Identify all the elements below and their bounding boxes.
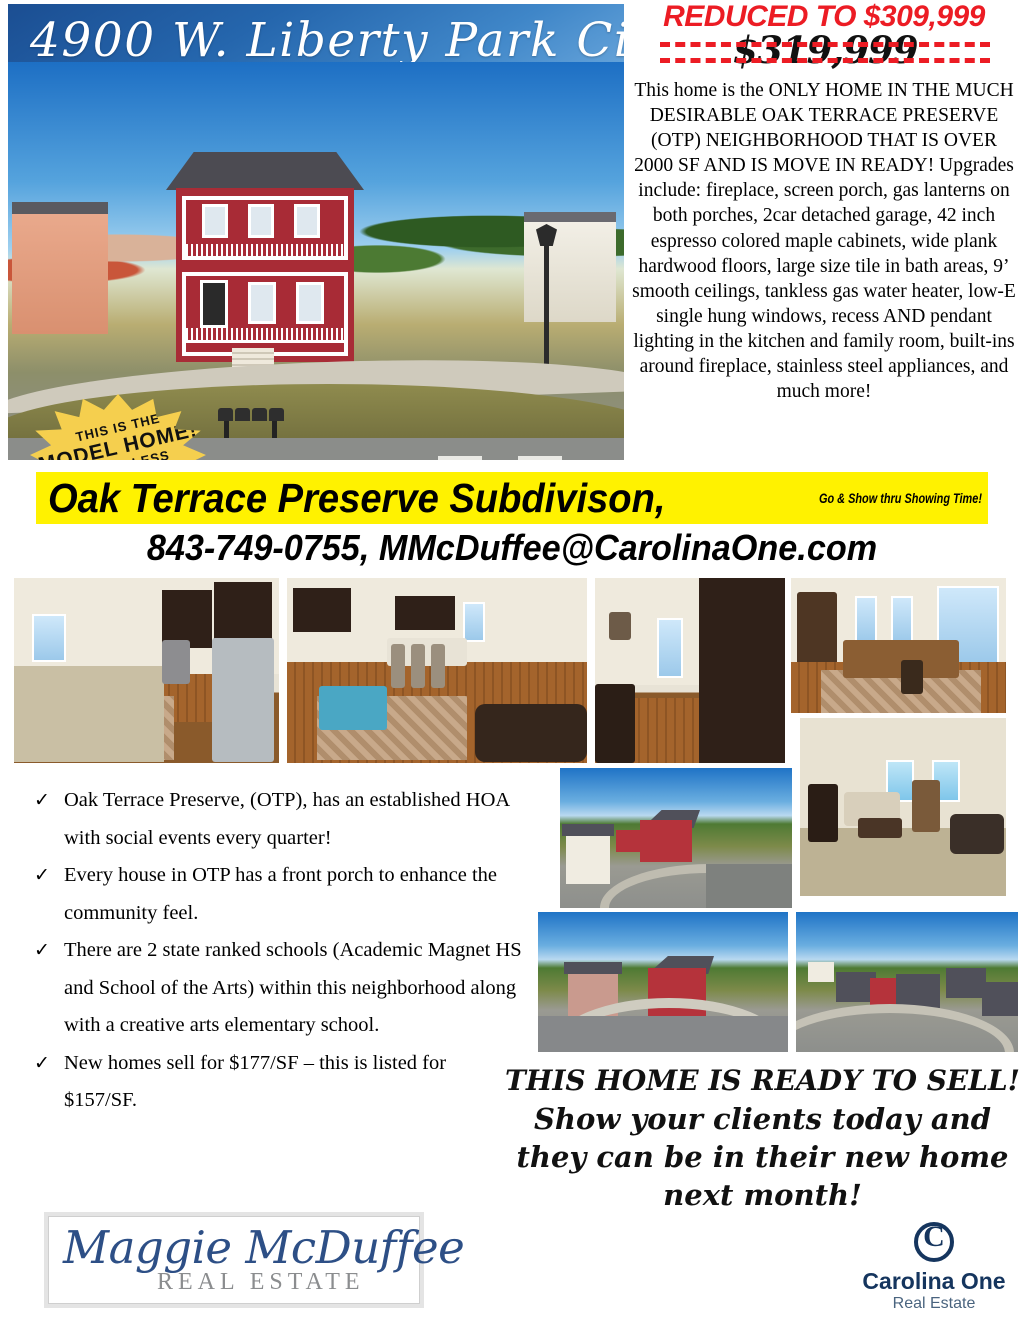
strikethrough-line-1: [660, 42, 990, 47]
brokerage-subtitle: Real Estate: [848, 1294, 1020, 1314]
photo-aerial-red-house-street-view: [560, 768, 792, 908]
list-item: ✓ Oak Terrace Preserve, (OTP), has an es…: [24, 782, 524, 857]
brokerage-name: Carolina One: [848, 1268, 1020, 1294]
showing-time-note: Go & Show thru Showing Time!: [819, 486, 982, 510]
neighbor-house-left: [12, 202, 108, 334]
street-lamp: [544, 240, 549, 366]
feature-text: There are 2 state ranked schools (Academ…: [64, 939, 522, 1036]
photo-aerial-neighborhood-overview: [796, 912, 1018, 1052]
photo-dining-room-long-table: [791, 578, 1006, 713]
agent-logo: Maggie McDuffee REAL ESTATE: [48, 1216, 420, 1304]
window-lower-right: [296, 282, 324, 324]
photo-hallway-dark-cabinets: [595, 578, 785, 763]
window-upper-right: [294, 204, 320, 238]
subdivision-name: Oak Terrace Preserve Subdivison,: [48, 472, 665, 524]
feature-text: Every house in OTP has a front porch to …: [64, 864, 497, 924]
photo-aerial-red-house-cul-de-sac: [538, 912, 788, 1052]
list-item: ✓ New homes sell for $177/SF – this is l…: [24, 1045, 524, 1120]
window-lower-mid: [248, 282, 276, 324]
strikethrough-line-2: [660, 58, 990, 63]
list-item: ✓ Every house in OTP has a front porch t…: [24, 857, 524, 932]
window-upper-left: [202, 204, 228, 238]
cta-subtext: Show your clients today and they can be …: [505, 1100, 1020, 1214]
call-to-action: THIS HOME IS READY TO SELL! Show your cl…: [505, 1062, 1020, 1214]
brokerage-logo: C Carolina One Real Estate: [848, 1222, 1020, 1314]
window-upper-mid: [248, 204, 274, 238]
neighbor-house-right: [524, 212, 616, 322]
list-item: ✓ There are 2 state ranked schools (Acad…: [24, 932, 524, 1045]
cta-headline: THIS HOME IS READY TO SELL!: [505, 1062, 1020, 1100]
feature-text: New homes sell for $177/SF – this is lis…: [64, 1052, 446, 1112]
check-icon: ✓: [34, 782, 50, 820]
carolina-one-c-icon: C: [914, 1222, 954, 1262]
subdivision-banner: Oak Terrace Preserve Subdivison, Go & Sh…: [36, 472, 988, 524]
photo-kitchen-breakfast-bar-living: [287, 578, 587, 763]
photo-kitchen-island-granite: [14, 578, 279, 763]
listed-house: [176, 152, 354, 362]
hero-exterior-photo: THIS IS THE MODEL HOME! LIVED IN LESS TH…: [8, 62, 624, 460]
old-price-group: $319,999: [660, 28, 990, 72]
contact-info[interactable]: 843-749-0755, MMcDuffee@CarolinaOne.com: [26, 527, 999, 569]
agent-tagline: REAL ESTATE: [157, 1269, 365, 1296]
photo-master-bedroom-carpet: [800, 718, 1006, 896]
front-door: [200, 280, 228, 328]
upper-railing: [186, 244, 344, 259]
check-icon: ✓: [34, 857, 50, 895]
feature-text: Oak Terrace Preserve, (OTP), has an esta…: [64, 789, 509, 849]
check-icon: ✓: [34, 932, 50, 970]
check-icon: ✓: [34, 1045, 50, 1083]
property-description: This home is the ONLY HOME IN THE MUCH D…: [630, 78, 1018, 404]
old-price: $319,999: [660, 28, 990, 72]
lower-railing: [186, 328, 344, 343]
roof: [166, 152, 364, 190]
features-list: ✓ Oak Terrace Preserve, (OTP), has an es…: [24, 782, 524, 1120]
